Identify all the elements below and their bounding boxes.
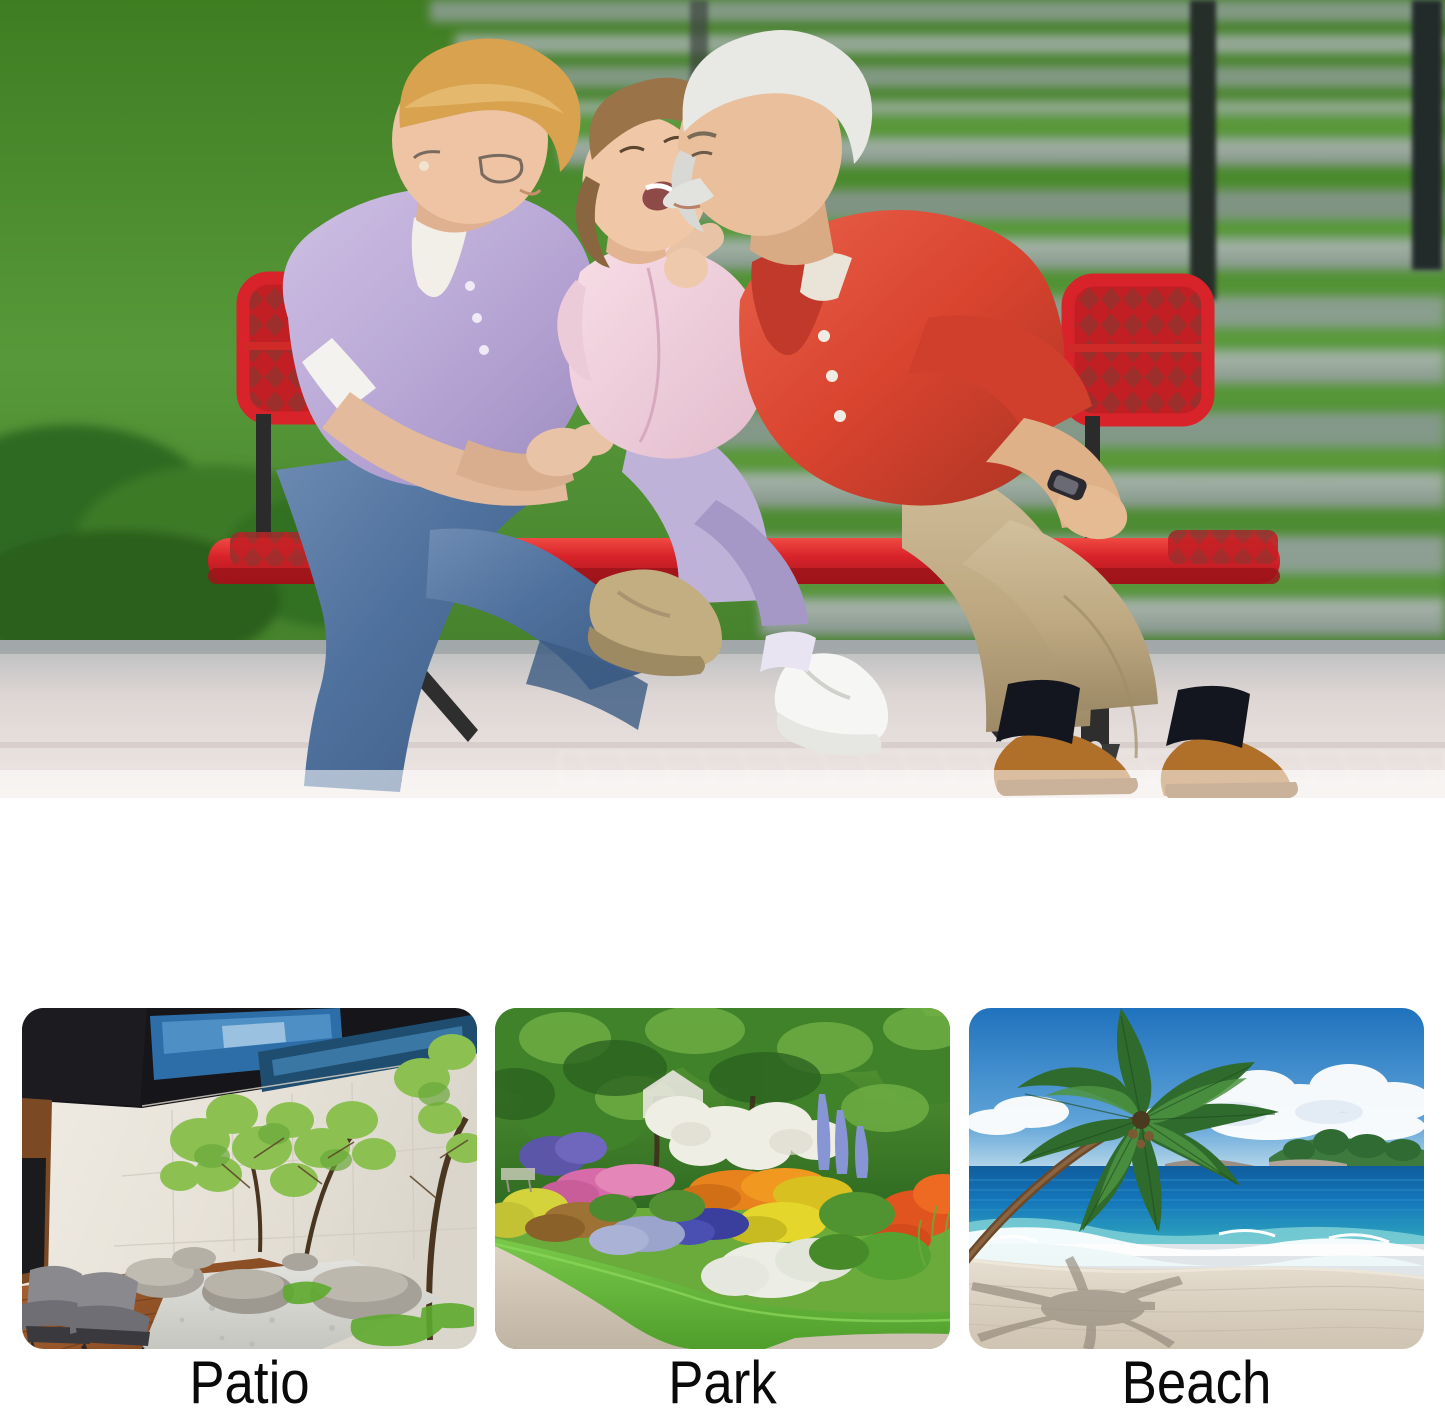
hero-lifestyle-photo xyxy=(0,0,1445,798)
caption-park: Park xyxy=(522,1352,922,1414)
park-garden-photo xyxy=(495,1008,950,1349)
caption-patio: Patio xyxy=(49,1352,449,1414)
caption-beach: Beach xyxy=(996,1352,1396,1414)
tropical-beach-photo xyxy=(969,1008,1424,1349)
patio-courtyard-photo xyxy=(22,1008,477,1349)
scene-card-beach[interactable] xyxy=(969,1008,1424,1349)
product-marketing-page: WIDE APPLICATION xyxy=(0,0,1445,1415)
application-scene-cards xyxy=(0,1008,1445,1349)
promo-band: WIDE APPLICATION xyxy=(0,798,1445,998)
scene-card-patio[interactable] xyxy=(22,1008,477,1349)
hero-scene-illustration xyxy=(0,0,1445,798)
patio-chairs xyxy=(22,1266,150,1349)
scene-card-park[interactable] xyxy=(495,1008,950,1349)
scene-captions: Patio Park Beach xyxy=(0,1352,1445,1415)
